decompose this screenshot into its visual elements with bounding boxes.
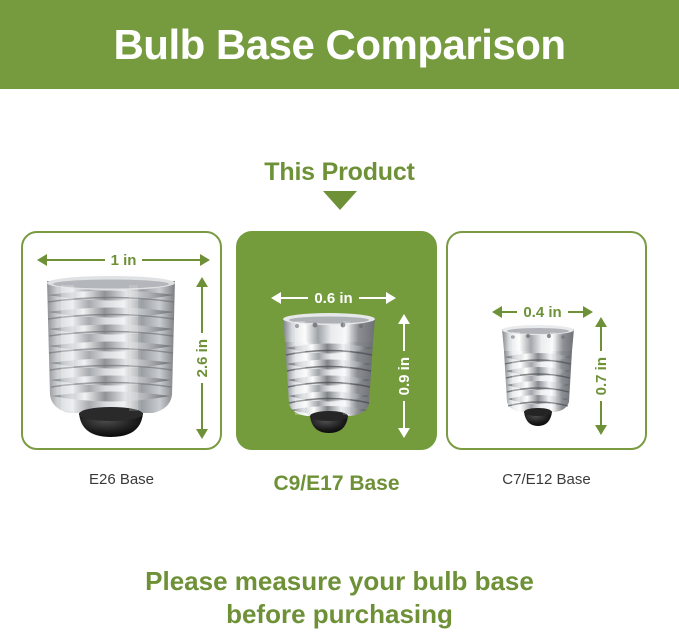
height-dimension-e26: 2.6 in [193, 277, 211, 439]
arrow-down-icon [398, 428, 410, 438]
this-product-label: This Product [0, 160, 679, 185]
height-dimension-c7e12: 0.7 in [592, 317, 610, 435]
dimension-line [600, 401, 602, 425]
arrow-left-icon [37, 254, 47, 266]
page-title: Bulb Base Comparison [113, 24, 565, 66]
footer-line-1: Please measure your bulb base [0, 565, 679, 598]
dimension-line [201, 287, 203, 333]
this-product-callout: This Product [0, 160, 679, 210]
dimension-line [47, 259, 105, 261]
dimension-line [600, 327, 602, 351]
header-banner: Bulb Base Comparison [0, 0, 679, 89]
caption-e26: E26 Base [21, 472, 222, 489]
screw-base-e12-icon [497, 324, 579, 427]
height-dimension-label: 2.6 in [195, 333, 210, 383]
footer-line-2: before purchasing [0, 598, 679, 631]
footer-note: Please measure your bulb base before pur… [0, 565, 679, 632]
height-dimension-c9e17: 0.9 in [395, 314, 413, 438]
screw-base-e17-icon [277, 312, 381, 434]
dimension-line [142, 259, 200, 261]
dimension-line [281, 297, 308, 299]
height-dimension-label: 0.9 in [397, 351, 412, 401]
dimension-line [403, 401, 405, 428]
arrow-up-icon [398, 314, 410, 324]
arrow-left-icon [492, 306, 502, 318]
triangle-down-icon [323, 191, 357, 210]
caption-c9e17: C9/E17 Base [236, 472, 437, 495]
arrow-left-icon [271, 292, 281, 304]
width-dimension-label: 0.6 in [308, 291, 358, 306]
width-dimension-c9e17: 0.6 in [271, 290, 396, 306]
arrow-right-icon [200, 254, 210, 266]
bulb-card-c7e12[interactable]: 0.4 in [446, 231, 647, 450]
arrow-up-icon [595, 317, 607, 327]
width-dimension-label: 0.4 in [517, 305, 567, 320]
dimension-line [359, 297, 386, 299]
width-dimension-e26: 1 in [37, 252, 210, 268]
dimension-line [568, 311, 583, 313]
dimension-line [201, 383, 203, 429]
bulb-card-e26[interactable]: 1 in [21, 231, 222, 450]
height-dimension-label: 0.7 in [594, 351, 609, 401]
arrow-down-icon [595, 425, 607, 435]
arrow-right-icon [386, 292, 396, 304]
caption-c7e12: C7/E12 Base [446, 472, 647, 489]
width-dimension-label: 1 in [105, 253, 143, 268]
arrow-up-icon [196, 277, 208, 287]
dimension-line [502, 311, 517, 313]
screw-base-e26-icon [41, 275, 181, 438]
width-dimension-c7e12: 0.4 in [492, 304, 593, 320]
bulb-card-c9e17[interactable]: 0.6 in [236, 231, 437, 450]
dimension-line [403, 324, 405, 351]
arrow-down-icon [196, 429, 208, 439]
